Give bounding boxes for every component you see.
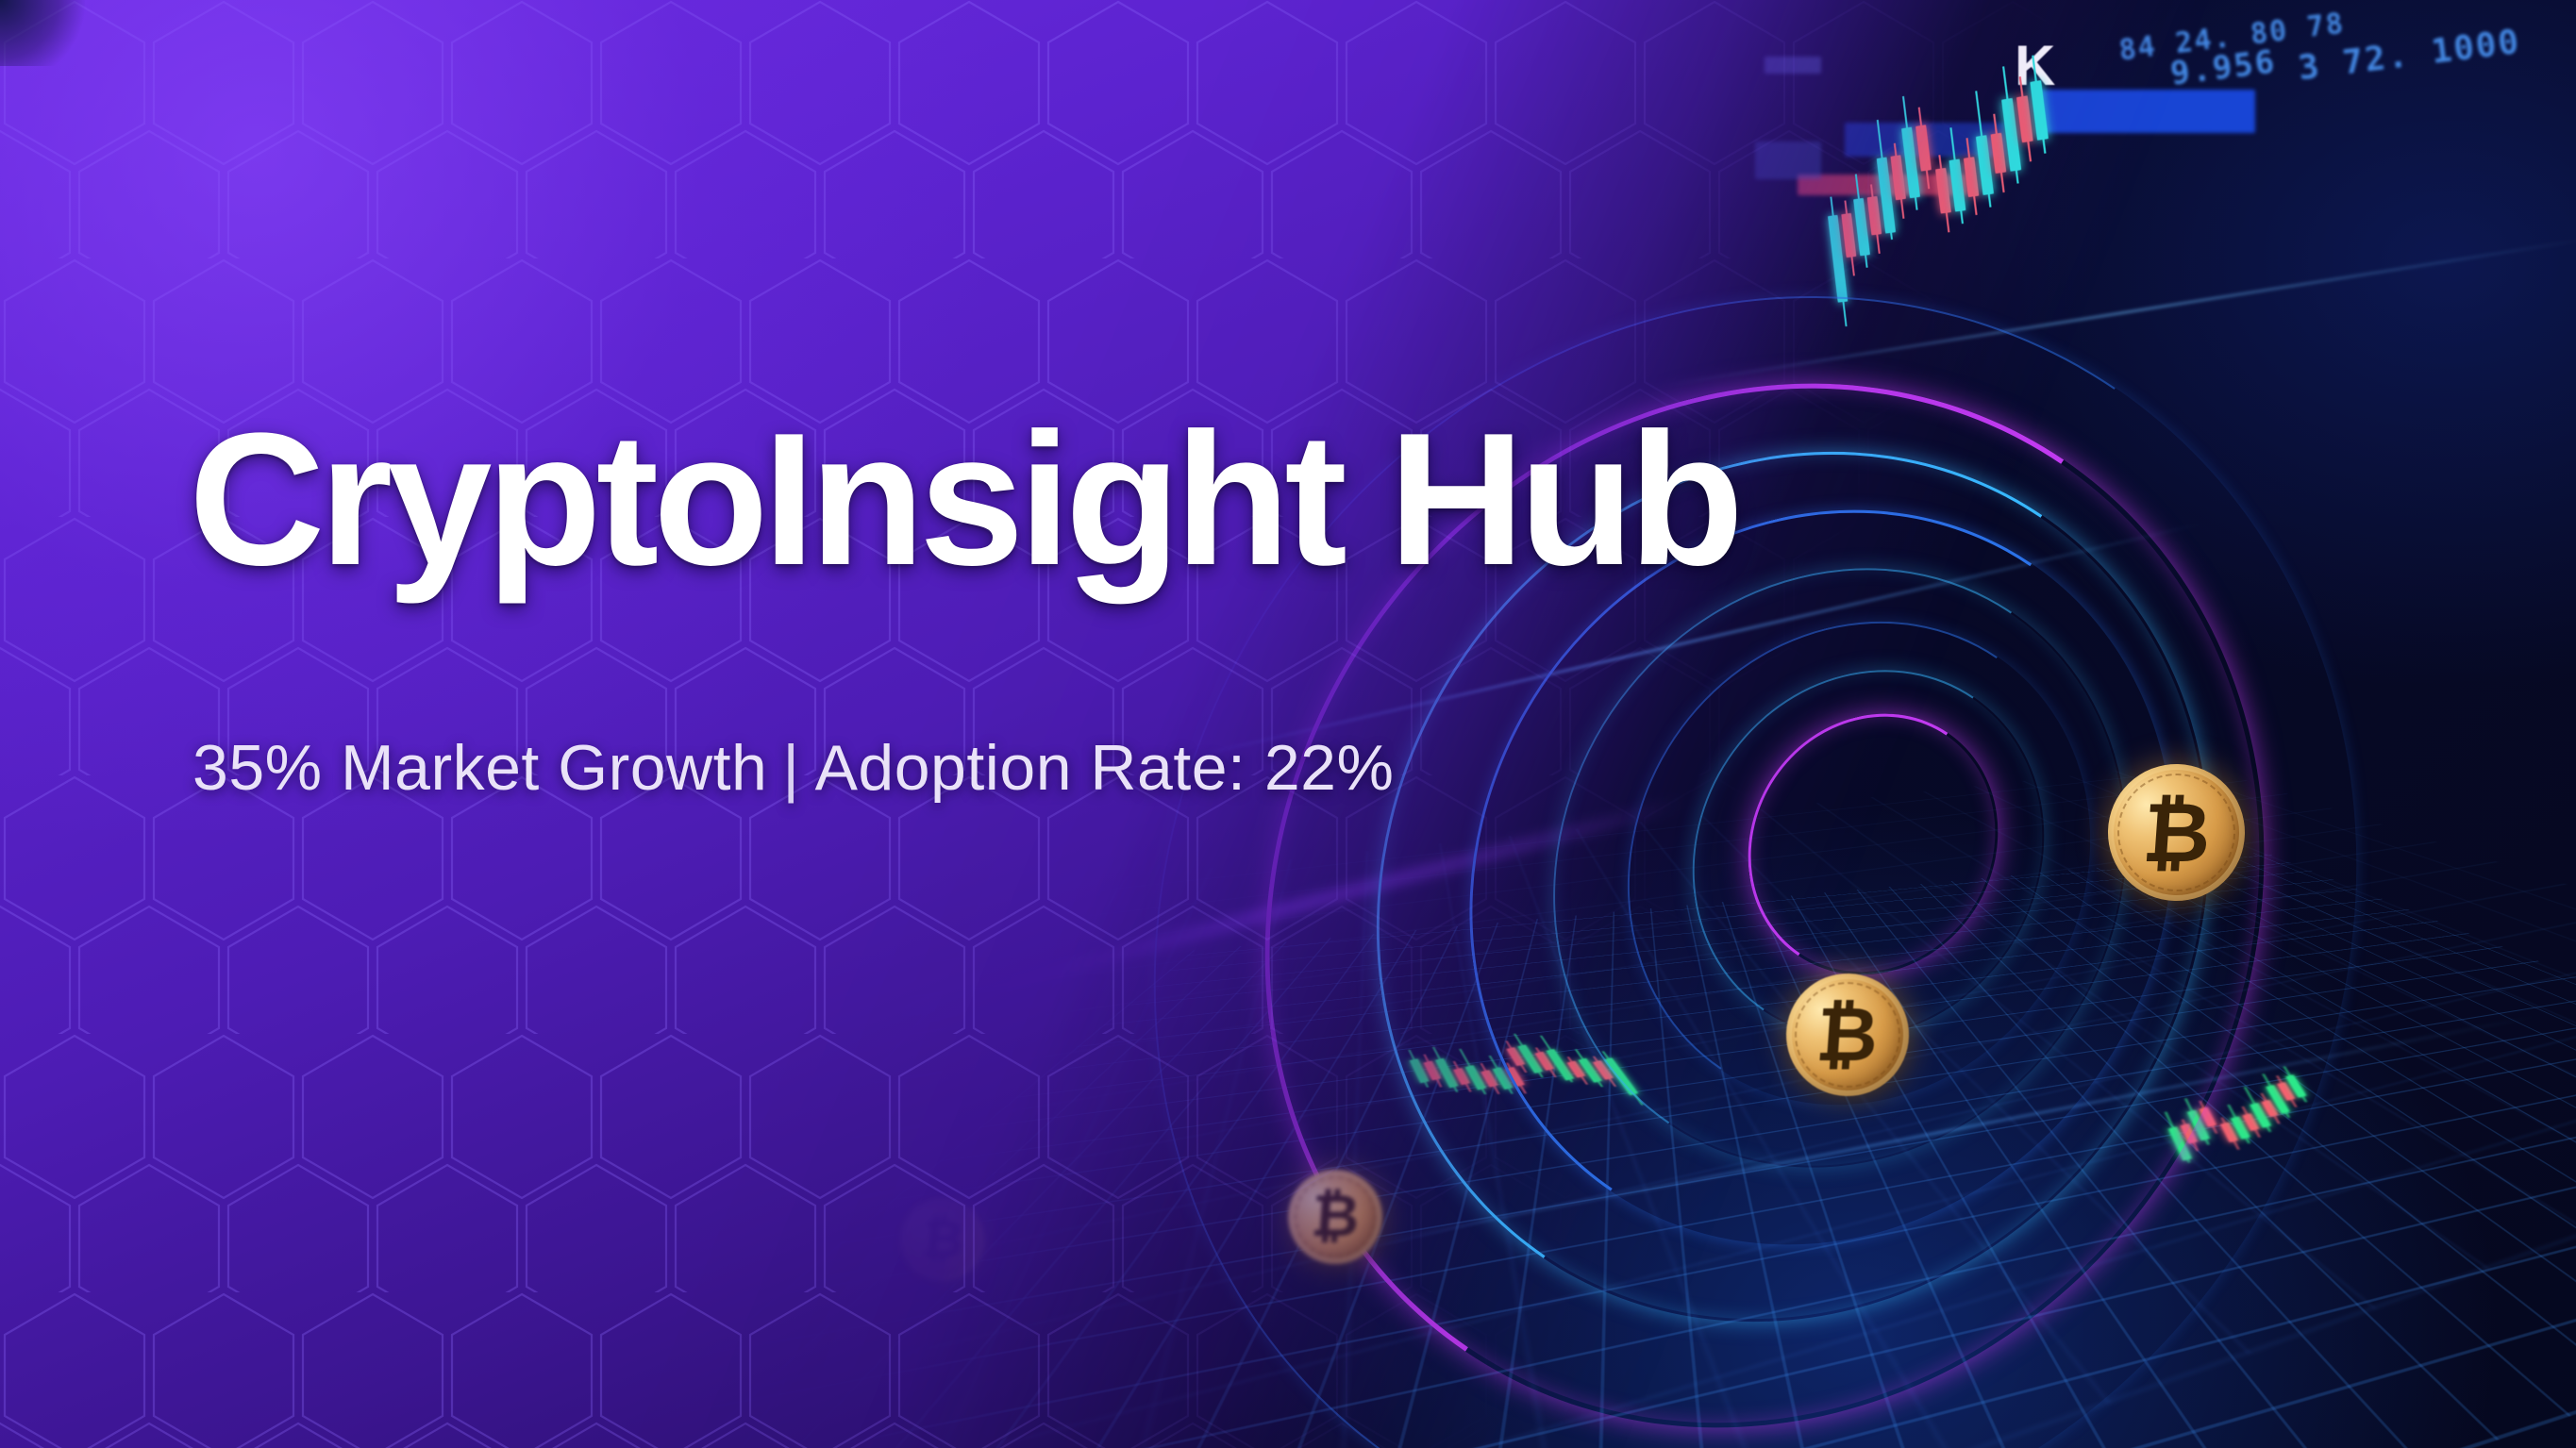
market-growth-stat: 35% Market Growth <box>192 732 767 804</box>
banner-subtitle: 35% Market Growth|Adoption Rate: 22% <box>192 731 1394 805</box>
hexagon-pattern <box>0 0 2576 1448</box>
page-title: CryptoInsight Hub <box>189 406 1738 594</box>
crypto-banner: 84 24. 80 78 9.956 3 72. 1000 K ₿ ₿ ₿ ₿ <box>0 0 2576 1448</box>
subtitle-separator: | <box>782 732 799 804</box>
corner-artifact <box>0 0 85 66</box>
adoption-rate-stat: Adoption Rate: 22% <box>815 732 1395 804</box>
